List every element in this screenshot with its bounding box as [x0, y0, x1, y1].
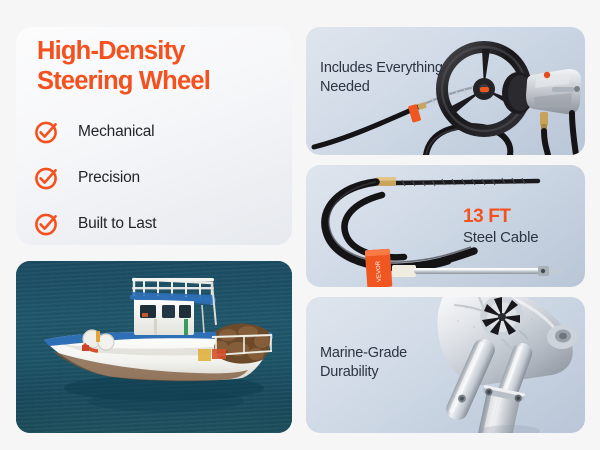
headline-line-1: High-Density — [37, 37, 185, 65]
page-title: High-Density Steering Wheel — [37, 36, 210, 96]
boat-photo — [16, 261, 292, 433]
panel-includes-everything: Includes Everything Needed — [306, 27, 585, 155]
feature-list: Mechanical Precision B — [34, 112, 284, 245]
list-item: Built to Last — [34, 204, 284, 244]
headline-line-2: Steering Wheel — [37, 66, 210, 96]
fishing-boat-illustration — [16, 261, 292, 433]
panel-caption: Marine-Grade Durability — [320, 344, 450, 382]
feature-label: Mechanical — [78, 123, 154, 141]
list-item: Mechanical — [34, 112, 284, 152]
list-item: Precision — [34, 158, 284, 198]
check-circle-icon — [34, 165, 60, 191]
infographic-canvas: High-Density Steering Wheel Mechanical — [0, 0, 600, 450]
cable-length-value: 13 FT — [463, 206, 583, 228]
headline-card: High-Density Steering Wheel Mechanical — [16, 27, 292, 245]
panel-caption: Includes Everything Needed — [320, 59, 460, 97]
cable-caption-group: 13 FT Steel Cable — [463, 206, 583, 248]
feature-label: Precision — [78, 169, 140, 187]
check-circle-icon — [34, 211, 60, 237]
feature-label: Built to Last — [78, 215, 156, 233]
check-circle-icon — [34, 119, 60, 145]
cable-caption-sub: Steel Cable — [463, 228, 583, 248]
panel-steel-cable: VEVOR 13 FT Steel Cable — [306, 165, 585, 287]
panel-marine-grade-durability: Marine-Grade Durability — [306, 297, 585, 433]
